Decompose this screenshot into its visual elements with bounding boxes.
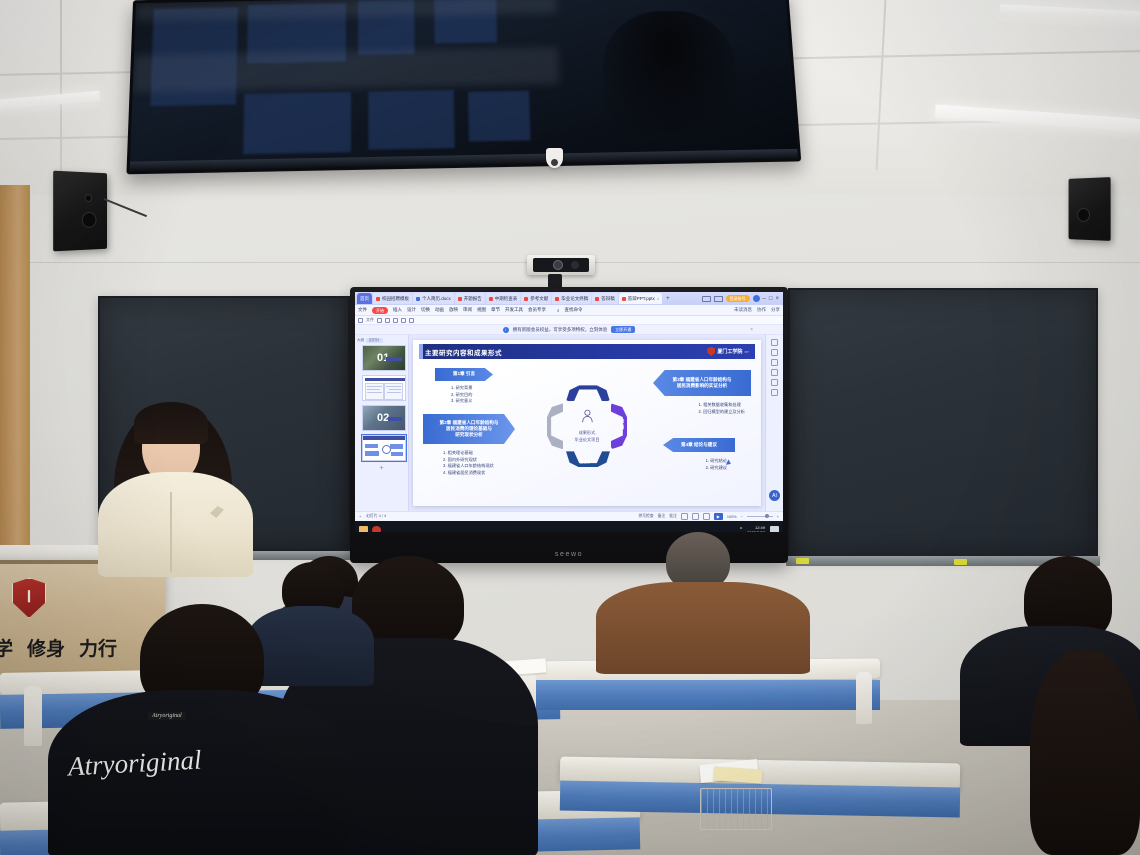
maximize-button[interactable]: □: [769, 296, 773, 302]
monitor-brand-label: seewo: [555, 551, 583, 558]
ribbon-insert[interactable]: 插入: [393, 307, 402, 313]
audience-torso: [246, 606, 374, 686]
wps-icon[interactable]: [372, 526, 381, 533]
thumbnail-slide-2[interactable]: 2: [362, 375, 406, 401]
tab-label: 个人简历.docx: [422, 296, 451, 302]
minimize-button[interactable]: –: [763, 296, 766, 302]
bullet-item: 1. 研究结论: [706, 458, 727, 465]
split-view-icon[interactable]: [702, 296, 711, 302]
under-desk-basket: [700, 788, 772, 830]
ribbon-animation[interactable]: 动画: [435, 307, 444, 313]
doc-icon: [555, 297, 559, 301]
cycle-diagram: 第一章 第三章 第三章 第二章: [544, 383, 630, 469]
audience-torso: [596, 582, 810, 674]
ring-segment-top-label: 第一章: [580, 389, 590, 394]
ribbon-member[interactable]: 会员专享: [528, 307, 546, 313]
tab-label: 毕业论文终稿: [561, 296, 588, 302]
presenter-hoodie: [98, 472, 253, 577]
zoom-slider[interactable]: [747, 516, 773, 517]
slide-canvas-area[interactable]: 主要研究内容和成果形式 厦门工学院 XIT 第1章 引言 1. 研究背景 2. …: [409, 335, 765, 511]
ceiling-light: [0, 91, 100, 111]
wall-speaker-right: [1069, 177, 1111, 241]
undo-icon[interactable]: [393, 318, 398, 323]
doc-icon: [376, 297, 380, 301]
menu-icon[interactable]: [714, 296, 723, 302]
account-badge[interactable]: 登录账号: [726, 295, 750, 302]
university-crest-icon: Ⅰ: [12, 578, 46, 618]
school-logo: 厦门工学院 XIT: [707, 347, 749, 356]
close-icon[interactable]: ×: [750, 327, 753, 333]
notifications-icon[interactable]: [770, 526, 779, 533]
thumbnail-panel-header: 大纲 幻灯片: [357, 338, 406, 343]
normal-view-icon[interactable]: [681, 513, 688, 520]
ceiling-light: [935, 105, 1140, 133]
lecture-hall-scene: 首页 校园招聘模板 个人简历.docx 开题报告 中期检查表: [0, 0, 1140, 855]
new-tab-button[interactable]: +: [663, 296, 673, 302]
motto-word: 修身: [27, 634, 65, 661]
crest-icon: [707, 347, 715, 356]
chapter-2-heading: 第2章 福建省人口年龄结构与 居民消费的理论基础与 研究现状分析: [423, 414, 515, 444]
settings-icon[interactable]: [771, 379, 778, 386]
collab-button[interactable]: 协作: [757, 307, 766, 313]
outline-tab[interactable]: 大纲: [357, 338, 364, 343]
file-explorer-icon[interactable]: [359, 526, 368, 533]
notice-text: 拥有新版会员权益，可享受多项特权，立刻体验: [513, 327, 608, 333]
ribbon-search-label[interactable]: 查找命令: [565, 307, 583, 313]
bullet-item: 2. 回归模型的建立及分析: [698, 409, 745, 416]
slide-title-bar: 主要研究内容和成果形式 厦门工学院 XIT: [419, 344, 755, 359]
bullet-item: 2. 研究建议: [706, 465, 727, 472]
doc-icon: [458, 297, 462, 301]
ribbon-design[interactable]: 设计: [407, 307, 416, 313]
doc-icon: [489, 297, 493, 301]
close-button[interactable]: ×: [775, 296, 779, 302]
activate-button[interactable]: 立即开通: [611, 326, 635, 333]
ceiling-display: [126, 0, 801, 174]
bullet-item: 4. 福建省居民消费现状: [443, 470, 494, 477]
thumbnail-slide-3[interactable]: 3 02: [362, 405, 406, 431]
tab-label: 首页: [360, 296, 369, 302]
ring-segment-bottom-label: 第三章: [580, 459, 590, 464]
window-controls: 登录账号 – □ ×: [702, 295, 781, 302]
ribbon-review[interactable]: 审阅: [463, 307, 472, 313]
ribbon-view[interactable]: 视图: [477, 307, 486, 313]
tab-item[interactable]: 校园招聘模板: [373, 293, 412, 304]
bullet-item: 1. 相关数据收集和处理: [698, 402, 745, 409]
chevron-up-icon[interactable]: ^: [740, 527, 742, 533]
template-icon[interactable]: [771, 369, 778, 376]
ceiling-grid-line: [876, 0, 887, 170]
bullet-item: 1. 相关理论基础: [443, 450, 494, 457]
shirt-brand-tag: Atryoriginal: [148, 712, 186, 720]
start-slideshow-button[interactable]: ▶: [714, 513, 723, 520]
school-abbr: XIT: [744, 350, 749, 354]
ribbon-start-tab[interactable]: 开始: [372, 307, 388, 314]
system-tray: ^ 12:49 2025/5/22: [740, 525, 779, 533]
share-button[interactable]: 分享: [771, 307, 780, 313]
status-right-group: 拼写检查 备注 批注 ▶ 100% − +: [638, 513, 779, 520]
tab-label: 校园招聘模板: [382, 296, 409, 302]
avatar[interactable]: [753, 295, 760, 302]
chapter-4-bullets: 1. 研究结论 2. 研究建议: [706, 458, 727, 471]
ribbon-right-actions: 未读消息 协作 分享: [734, 307, 780, 313]
sorter-view-icon[interactable]: [692, 513, 699, 520]
tab-label: 答辩稿: [601, 296, 615, 302]
center-label-2: 毕业论文项目: [574, 437, 599, 443]
chapter-3-heading-text: 第3章 福建省人口年龄结构与 居民消费影响的实证分析: [673, 377, 732, 389]
info-icon: i: [503, 327, 509, 333]
chapter-4-heading: 第4章 结论与建议: [663, 438, 735, 452]
ribbon-transition[interactable]: 切换: [421, 307, 430, 313]
audience-head: [1030, 650, 1140, 855]
ribbon-file[interactable]: 文件: [358, 307, 367, 313]
presenter: [92, 400, 257, 575]
reading-view-icon[interactable]: [703, 513, 710, 520]
windows-taskbar: ^ 12:49 2025/5/22: [355, 521, 783, 532]
taskbar-clock[interactable]: 12:49 2025/5/22: [747, 525, 765, 533]
bench-back-panel: [520, 680, 880, 710]
ceiling-sensor-icon: [546, 148, 563, 168]
blackboard-right: [788, 288, 1098, 558]
add-slide-button[interactable]: +: [357, 465, 406, 472]
spellcheck-button[interactable]: 拼写检查: [638, 514, 653, 519]
close-icon[interactable]: ×: [657, 296, 659, 301]
hoodie-zipper: [170, 492, 172, 572]
ribbon-slideshow[interactable]: 放映: [449, 307, 458, 313]
ribbon-section[interactable]: 章节: [491, 307, 500, 313]
zoom-in-button[interactable]: +: [777, 515, 779, 519]
tab-item[interactable]: 毕业论文终稿: [552, 293, 591, 304]
bench-armrest: [24, 686, 42, 746]
print-icon[interactable]: [385, 318, 390, 323]
tab-home[interactable]: 首页: [357, 293, 372, 304]
tab-item[interactable]: 参考文献: [521, 293, 551, 304]
wps-quick-toolbar: 文件: [355, 316, 783, 325]
chapter-1-bullets: 1. 研究背景 2. 研究目的 3. 研究意义: [451, 385, 472, 405]
redo-icon[interactable]: [401, 318, 406, 323]
notes-button[interactable]: 备注: [658, 514, 666, 519]
doc-icon: [416, 297, 420, 301]
new-file-icon[interactable]: [358, 318, 363, 323]
wps-status-bar: + 幻灯片 4 / 4 拼写检查 备注 批注 ▶ 100% − +: [355, 511, 783, 521]
pptx-icon: [622, 297, 626, 301]
clock-date: 2025/5/22: [747, 530, 765, 533]
help-icon[interactable]: [771, 359, 778, 366]
comment-button[interactable]: 批注: [669, 514, 677, 519]
chapter-2-heading-text: 第2章 福建省人口年龄结构与 居民消费的理论基础与 研究现状分析: [440, 420, 499, 439]
tab-label: 开题报告: [464, 296, 482, 302]
bullet-item: 3. 研究意义: [451, 398, 472, 405]
camera-mount: [548, 274, 562, 288]
zoom-out-button[interactable]: −: [741, 515, 743, 519]
unread-button[interactable]: 未读消息: [734, 307, 752, 313]
slide-thumbnail-panel[interactable]: 大纲 幻灯片 1 01 2: [355, 335, 409, 511]
chapter-1-heading: 第1章 引言: [435, 368, 493, 381]
ring-segment-right-label: 第三章: [620, 419, 625, 429]
chapter-3-heading: 第3章 福建省人口年龄结构与 居民消费影响的实证分析: [653, 370, 751, 396]
thumbnail-slide-1[interactable]: 1 01: [362, 345, 406, 371]
bench-armrest: [856, 672, 872, 724]
doc-icon: [595, 297, 599, 301]
ribbon-devtools[interactable]: 开发工具: [505, 307, 523, 313]
add-slide-icon[interactable]: +: [359, 515, 361, 519]
conference-camera: [527, 255, 595, 275]
motto-word: 力行: [79, 634, 117, 661]
tab-label: 参考文献: [530, 296, 548, 302]
export-icon[interactable]: [771, 389, 778, 396]
save-icon[interactable]: [377, 318, 382, 323]
wall-speaker-left: [53, 171, 107, 252]
screen: 首页 校园招聘模板 个人简历.docx 开题报告 中期检查表: [355, 292, 783, 532]
tool-file-label[interactable]: 文件: [366, 317, 374, 323]
tv-reflection-person: [601, 10, 740, 135]
tab-item[interactable]: 开题报告: [455, 293, 485, 304]
tab-item-active[interactable]: 答辩PPT.pptx ×: [619, 293, 662, 304]
wps-body: 大纲 幻灯片 1 01 2: [355, 335, 783, 511]
wps-ribbon-menu: 文件 开始 插入 设计 切换 动画 放映 审阅 视图 章节 开发工具 会员专享 …: [355, 305, 783, 316]
tab-item[interactable]: 中期检查表: [486, 293, 521, 304]
thumbnail-slide-4[interactable]: 4: [362, 435, 406, 461]
wps-tab-bar: 首页 校园招聘模板 个人简历.docx 开题报告 中期检查表: [355, 292, 783, 305]
mouse-cursor-icon: [726, 459, 732, 466]
ai-assistant-button[interactable]: AI: [769, 490, 780, 501]
wps-right-rail[interactable]: AI: [765, 335, 783, 511]
bullet-item: 1. 研究背景: [451, 385, 472, 392]
chapter-2-bullets: 1. 相关理论基础 2. 国内外研究现状 3. 福建省人口年龄结构现状 4. 福…: [443, 450, 494, 477]
presenter-hair-top: [134, 402, 208, 444]
tab-label: 答辩PPT.pptx: [628, 296, 655, 302]
school-name: 厦门工学院: [717, 348, 742, 355]
tab-item[interactable]: 个人简历.docx: [413, 293, 454, 304]
zoom-level[interactable]: 100%: [727, 515, 737, 519]
doc-icon: [524, 297, 528, 301]
motto-word: 学: [0, 634, 13, 661]
history-icon[interactable]: [771, 349, 778, 356]
tab-label: 中期检查表: [495, 296, 518, 302]
search-icon[interactable]: ⌕: [557, 308, 560, 313]
ring-segment-left-label: 第二章: [550, 419, 555, 429]
membership-notice-bar: i 拥有新版会员权益，可享受多项特权，立刻体验 立即开通 ×: [355, 325, 783, 335]
chapter-3-bullets: 1. 相关数据收集和处理 2. 回归模型的建立及分析: [698, 402, 745, 415]
slide-indicator: 幻灯片 4 / 4: [366, 514, 386, 519]
interactive-display-monitor: 首页 校园招聘模板 个人简历.docx 开题报告 中期检查表: [350, 287, 788, 563]
format-painter-icon[interactable]: [409, 318, 414, 323]
zoom-slider-knob[interactable]: [765, 514, 769, 518]
person-icon: [581, 410, 593, 424]
ceiling-light: [1000, 4, 1140, 21]
slides-tab[interactable]: 幻灯片: [366, 338, 383, 343]
tab-item[interactable]: 答辩稿: [592, 293, 618, 304]
cycle-center: 成果形式 毕业论文项目: [574, 410, 599, 444]
slide-current[interactable]: 主要研究内容和成果形式 厦门工学院 XIT 第1章 引言 1. 研究背景 2. …: [413, 340, 761, 506]
design-icon[interactable]: [771, 339, 778, 346]
page-title: 主要研究内容和成果形式: [425, 347, 502, 357]
